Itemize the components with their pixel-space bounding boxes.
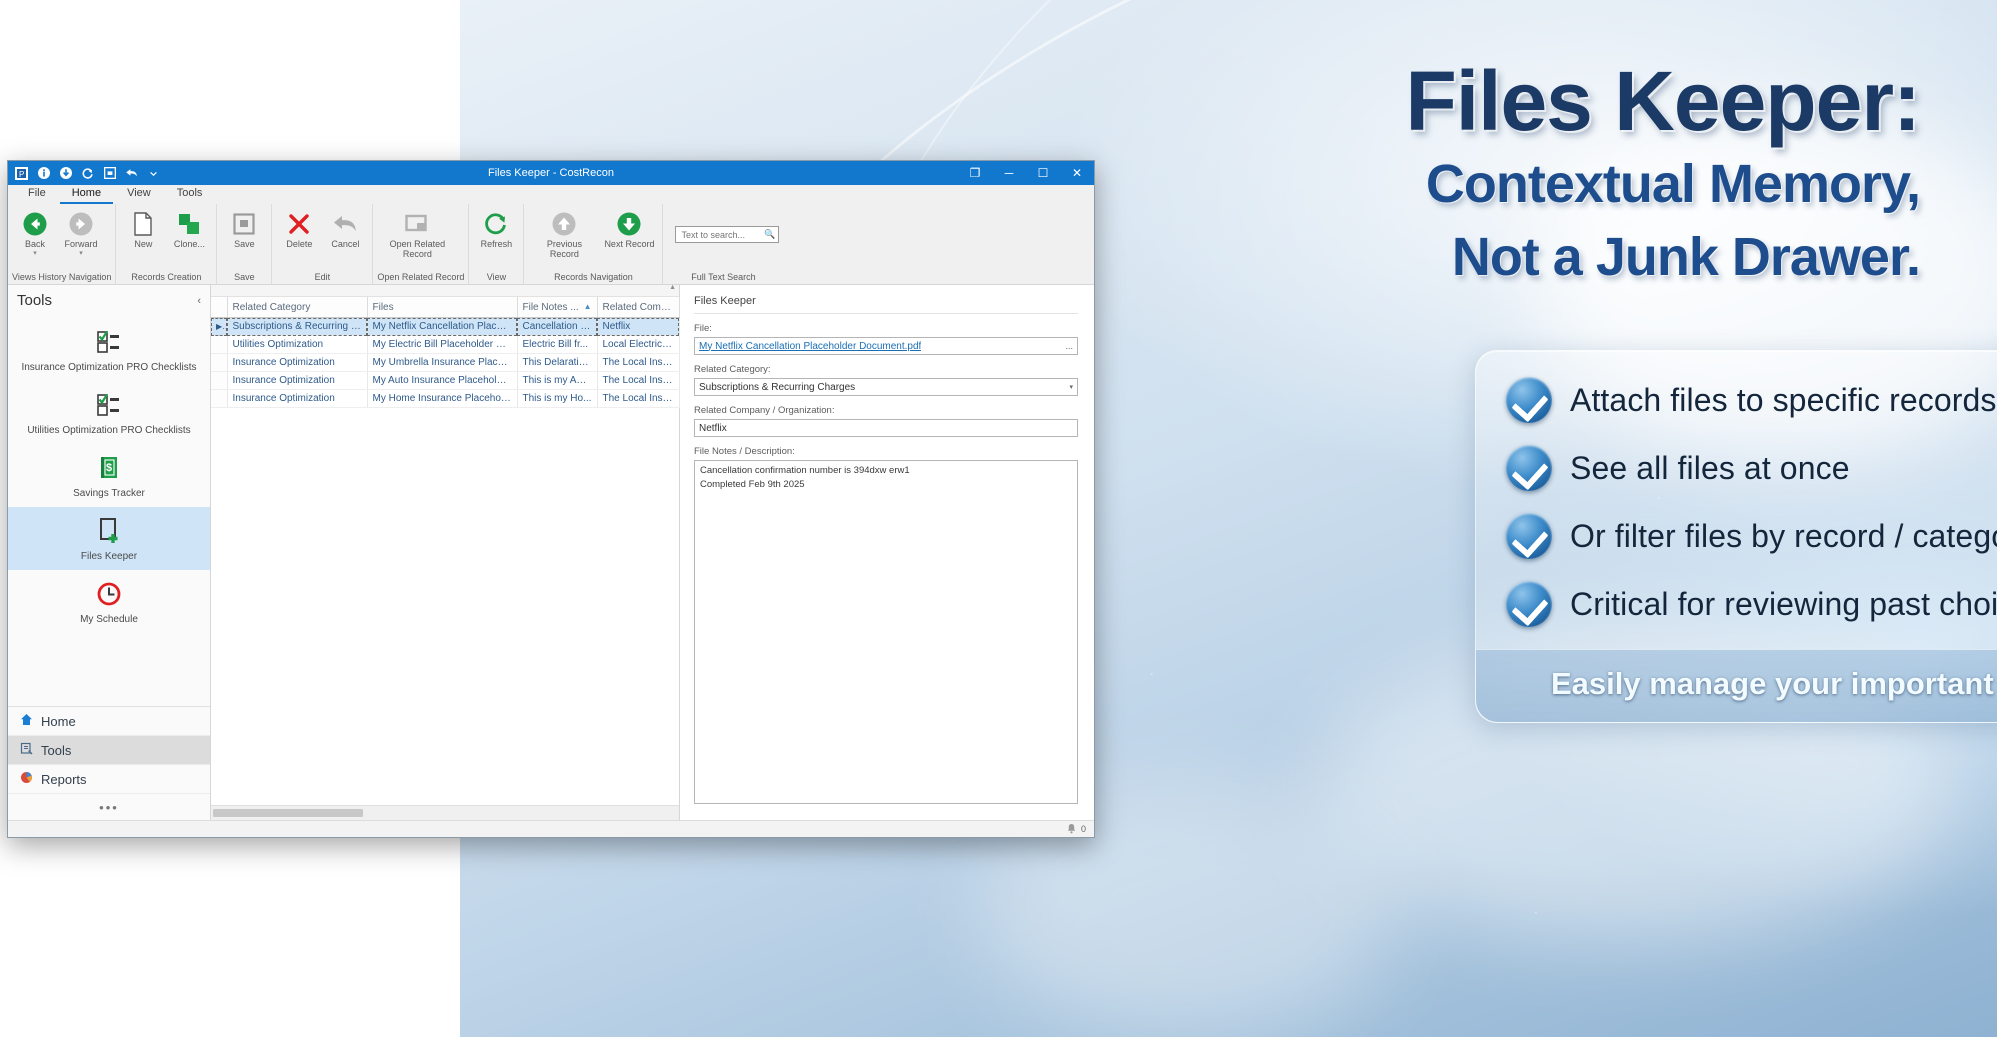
new-record-button[interactable]: New	[120, 208, 166, 251]
sidebar-nav-reports[interactable]: Reports	[8, 765, 210, 794]
cell-files: My Home Insurance Placeholder Docum...	[367, 390, 517, 408]
chevron-left-icon[interactable]: ‹	[197, 295, 201, 307]
window-body: Tools ‹ Insurance Optimization PRO	[8, 285, 1094, 820]
promo-footer-banner: Easily manage your important docs and fi…	[1476, 649, 1997, 722]
delete-button[interactable]: Delete	[276, 208, 322, 251]
previous-record-label: Previous Record	[532, 240, 596, 260]
checklist-icon	[14, 390, 204, 420]
ribbon-group-label: Open Related Record	[377, 272, 464, 284]
table-row[interactable]: Insurance Optimization My Auto Insurance…	[211, 372, 679, 390]
checklist-icon	[14, 327, 204, 357]
file-notes-textarea[interactable]: Cancellation confirmation number is 394d…	[694, 460, 1078, 804]
back-button[interactable]: Back ▾	[12, 208, 58, 258]
ribbon-group-label: Views History Navigation	[12, 272, 111, 284]
cell-related-company: Netflix	[597, 318, 679, 336]
new-record-label: New	[134, 240, 152, 250]
new-document-icon	[131, 209, 155, 239]
clock-icon	[14, 579, 204, 609]
minimize-button[interactable]: ─	[992, 161, 1026, 185]
refresh-icon[interactable]	[80, 166, 95, 181]
forward-button-label: Forward	[64, 240, 97, 250]
cell-file-notes: Cancellation c...	[517, 318, 597, 336]
sidebar-item-utilities-optimization-pro-checklists[interactable]: Utilities Optimization PRO Checklists	[8, 381, 210, 444]
ribbon-group-label: Full Text Search	[667, 272, 779, 284]
save-button[interactable]: Save	[221, 208, 267, 251]
sidebar-nav-home[interactable]: Home	[8, 707, 210, 736]
cell-related-company: The Local Insuran...	[597, 372, 679, 390]
open-related-record-icon	[404, 209, 430, 239]
tab-file[interactable]: File	[16, 185, 58, 204]
svg-text:P: P	[19, 170, 24, 179]
field-related-category: Related Category: Subscriptions & Recurr…	[694, 364, 1078, 396]
cell-related-company: Local Electric Co.	[597, 336, 679, 354]
field-file-label: File:	[694, 323, 1078, 334]
cell-related-category: Insurance Optimization	[227, 372, 367, 390]
sidebar-item-label: Insurance Optimization PRO Checklists	[14, 362, 204, 374]
refresh-circular-icon	[483, 209, 509, 239]
ribbon-group-full-text-search: 🔍 Full Text Search	[663, 204, 783, 284]
row-indicator	[211, 336, 227, 354]
sidebar-item-label: My Schedule	[14, 614, 204, 626]
related-category-value: Subscriptions & Recurring Charges	[699, 382, 855, 393]
sidebar-nav-tools[interactable]: Tools	[8, 736, 210, 765]
sidebar-item-insurance-optimization-pro-checklists[interactable]: Insurance Optimization PRO Checklists	[8, 318, 210, 381]
home-icon	[20, 713, 33, 729]
save-button-label: Save	[234, 240, 255, 250]
file-browse-button[interactable]: ...	[1065, 341, 1073, 351]
cancel-button[interactable]: Cancel	[322, 208, 368, 251]
related-company-input[interactable]: Netflix	[694, 419, 1078, 437]
related-company-value: Netflix	[699, 423, 727, 434]
cell-file-notes: This is my Ho...	[517, 390, 597, 408]
cell-file-notes: Electric Bill fr...	[517, 336, 597, 354]
grid-horizontal-scrollbar[interactable]	[211, 805, 679, 820]
back-button-label: Back	[25, 240, 45, 250]
sidebar-item-my-schedule[interactable]: My Schedule	[8, 570, 210, 633]
promo-bullet-label: See all files at once	[1570, 450, 1850, 487]
cell-files: My Netflix Cancellation Placeholder Doc.…	[367, 318, 517, 336]
download-icon[interactable]	[58, 166, 73, 181]
field-file-notes-label: File Notes / Description:	[694, 446, 1078, 457]
files-grid: Related Category Files ▲File Notes ... R…	[211, 297, 680, 408]
sidebar-item-savings-tracker[interactable]: $ Savings Tracker	[8, 444, 210, 507]
detail-pane-title: Files Keeper	[694, 295, 1078, 314]
cell-related-company: The Local Insuran...	[597, 354, 679, 372]
quick-access-toolbar: P	[8, 166, 161, 181]
cell-related-company: The Local Insuran...	[597, 390, 679, 408]
sidebar-nav-label: Reports	[41, 772, 87, 787]
related-category-dropdown[interactable]: Subscriptions & Recurring Charges ▾	[694, 378, 1078, 396]
tab-view[interactable]: View	[115, 185, 163, 204]
chevron-down-icon[interactable]	[146, 166, 161, 181]
notification-count: 0	[1081, 824, 1086, 834]
next-record-button[interactable]: Next Record	[600, 208, 658, 251]
row-indicator	[211, 372, 227, 390]
file-field-control[interactable]: My Netflix Cancellation Placeholder Docu…	[694, 337, 1078, 355]
sidebar-header: Tools ‹	[8, 285, 210, 318]
sidebar-item-label: Files Keeper	[14, 551, 204, 563]
refresh-button[interactable]: Refresh	[473, 208, 519, 251]
reports-chart-icon	[20, 771, 33, 787]
sidebar-nav: Home Tools Reports	[8, 706, 210, 794]
promo-bullet: Critical for reviewing past choices	[1506, 581, 1997, 627]
ribbon-group-save: Save Save	[217, 204, 272, 284]
undo-icon[interactable]	[124, 166, 139, 181]
ribbon-group-views-history-navigation: Back ▾ Forward ▾ Views History Navigatio…	[8, 204, 116, 284]
field-related-company: Related Company / Organization: Netflix	[694, 405, 1078, 437]
refresh-button-label: Refresh	[481, 240, 513, 250]
check-circle-icon	[1506, 513, 1552, 559]
tools-icon	[20, 742, 33, 758]
app-menu-icon[interactable]: P	[14, 166, 29, 181]
open-related-record-label: Open Related Record	[381, 240, 453, 260]
files-grid-pane: Related Category Files ▲File Notes ... R…	[211, 285, 680, 820]
check-circle-icon	[1506, 377, 1552, 423]
field-file: File: My Netflix Cancellation Placeholde…	[694, 323, 1078, 355]
field-related-company-label: Related Company / Organization:	[694, 405, 1078, 416]
forward-button[interactable]: Forward ▾	[58, 208, 104, 258]
grid-column-file-notes[interactable]: ▲File Notes ...	[517, 297, 597, 318]
sidebar-item-label: Utilities Optimization PRO Checklists	[14, 425, 204, 437]
cell-files: My Auto Insurance Placeholder Docume...	[367, 372, 517, 390]
bell-icon[interactable]	[1066, 823, 1077, 836]
ribbon-group-label: View	[473, 272, 519, 284]
sidebar-more-options-button[interactable]: •••	[8, 794, 210, 820]
cell-files: My Electric Bill Placeholder Document.pd…	[367, 336, 517, 354]
svg-text:$: $	[106, 462, 112, 474]
ribbon-group-label: Edit	[276, 272, 368, 284]
grid-column-related-company[interactable]: Related Compan...	[597, 297, 679, 318]
sidebar-nav-label: Tools	[41, 743, 71, 758]
next-record-label: Next Record	[604, 240, 654, 250]
promo-bullet-label: Or filter files by record / category	[1570, 518, 1997, 555]
grid-column-related-category[interactable]: Related Category	[227, 297, 367, 318]
promo-bullet: See all files at once	[1506, 445, 1997, 491]
check-circle-icon	[1506, 581, 1552, 627]
cell-related-category: Utilities Optimization	[227, 336, 367, 354]
cell-file-notes: This is my Aut...	[517, 372, 597, 390]
file-notes-line-1: Cancellation confirmation number is 394d…	[700, 464, 1072, 478]
search-input[interactable]	[679, 229, 764, 241]
sort-ascending-icon: ▲	[584, 302, 592, 311]
cell-file-notes: This Delaratio...	[517, 354, 597, 372]
content-area: Related Category Files ▲File Notes ... R…	[211, 285, 1094, 820]
delete-x-icon	[287, 209, 311, 239]
row-indicator	[211, 390, 227, 408]
grid-header-row: Related Category Files ▲File Notes ... R…	[211, 297, 679, 318]
delete-button-label: Delete	[286, 240, 312, 250]
table-row[interactable]: Insurance Optimization My Home Insurance…	[211, 390, 679, 408]
ribbon-group-records-navigation: Previous Record Next Record Records Navi…	[524, 204, 663, 284]
promo-bullet-label: Critical for reviewing past choices	[1570, 586, 1997, 623]
cancel-button-label: Cancel	[331, 240, 359, 250]
promo-bullet: Or filter files by record / category	[1506, 513, 1997, 559]
previous-record-button[interactable]: Previous Record	[528, 208, 600, 261]
application-window: P Files Keeper - CostRecon ❐	[7, 160, 1095, 838]
check-circle-icon	[1506, 445, 1552, 491]
maximize-button[interactable]: ☐	[1026, 161, 1060, 185]
cell-files: My Umbrella Insurance Placeholder Doc...	[367, 354, 517, 372]
tab-tools[interactable]: Tools	[165, 185, 215, 204]
ribbon-group-records-creation: New Clone... Records Creation	[116, 204, 217, 284]
window-title: Files Keeper - CostRecon	[8, 167, 1094, 179]
open-related-record-button[interactable]: Open Related Record	[377, 208, 457, 261]
ribbon-body: Back ▾ Forward ▾ Views History Navigatio…	[8, 204, 1094, 284]
grid-row-indicator-header	[211, 297, 227, 318]
next-record-down-icon	[616, 209, 642, 239]
search-input-wrapper[interactable]: 🔍	[675, 226, 779, 243]
grid-scroll-up-indicator[interactable]	[211, 285, 679, 297]
forward-arrow-icon	[68, 209, 94, 239]
money-book-icon: $	[14, 453, 204, 483]
cancel-undo-icon	[332, 209, 358, 239]
sidebar-item-files-keeper[interactable]: Files Keeper	[8, 507, 210, 570]
ribbon: File Home View Tools Back ▾	[8, 185, 1094, 285]
status-bar: 0	[8, 820, 1094, 837]
scrollbar-thumb[interactable]	[213, 809, 363, 817]
save-floppy-icon	[232, 209, 256, 239]
cell-related-category: Insurance Optimization	[227, 390, 367, 408]
save-icon[interactable]	[102, 166, 117, 181]
promo-bullet: Attach files to specific records	[1506, 377, 1997, 423]
sidebar-items: Insurance Optimization PRO Checklists Ut…	[8, 318, 210, 706]
ribbon-group-label: Records Creation	[120, 272, 212, 284]
file-notes-line-2: Completed Feb 9th 2025	[700, 478, 1072, 492]
ribbon-group-open-related-record: Open Related Record Open Related Record	[373, 204, 469, 284]
table-row[interactable]: ▶ Subscriptions & Recurring Charges My N…	[211, 318, 679, 336]
table-row[interactable]: Insurance Optimization My Umbrella Insur…	[211, 354, 679, 372]
back-arrow-icon	[22, 209, 48, 239]
table-row[interactable]: Utilities Optimization My Electric Bill …	[211, 336, 679, 354]
previous-record-up-icon	[551, 209, 577, 239]
ribbon-group-label: Records Navigation	[528, 272, 658, 284]
sidebar-title: Tools	[17, 292, 52, 309]
grid-empty-area	[211, 408, 679, 805]
add-file-icon	[14, 516, 204, 546]
grid-column-file-notes-label: File Notes ...	[523, 302, 579, 313]
row-indicator	[211, 354, 227, 372]
sidebar-nav-label: Home	[41, 714, 76, 729]
window-titlebar: P Files Keeper - CostRecon ❐	[8, 161, 1094, 185]
promo-bullet-label: Attach files to specific records	[1570, 382, 1996, 419]
chevron-down-icon[interactable]: ▾	[33, 250, 37, 257]
clone-icon	[176, 209, 202, 239]
tab-home[interactable]: Home	[60, 185, 113, 204]
ribbon-tabs: File Home View Tools	[8, 185, 1094, 204]
restore-down-button[interactable]: ❐	[958, 161, 992, 185]
clone-record-label: Clone...	[174, 240, 205, 250]
close-button[interactable]: ✕	[1060, 161, 1094, 185]
window-controls: ❐ ─ ☐ ✕	[958, 161, 1094, 185]
promo-feature-card: Attach files to specific records See all…	[1475, 350, 1997, 723]
chevron-down-icon[interactable]: ▾	[79, 250, 83, 257]
ribbon-group-view: Refresh View	[469, 204, 524, 284]
promo-headline-main: Files Keeper:	[900, 60, 1920, 142]
info-icon[interactable]	[36, 166, 51, 181]
search-magnifier-icon[interactable]: 🔍	[764, 229, 775, 240]
grid-column-files[interactable]: Files	[367, 297, 517, 318]
sidebar: Tools ‹ Insurance Optimization PRO	[8, 285, 211, 820]
sidebar-item-label: Savings Tracker	[14, 488, 204, 500]
cell-related-category: Insurance Optimization	[227, 354, 367, 372]
row-indicator: ▶	[211, 318, 227, 336]
field-related-category-label: Related Category:	[694, 364, 1078, 375]
chevron-down-icon[interactable]: ▾	[1069, 383, 1073, 391]
ribbon-group-label: Save	[221, 272, 267, 284]
clone-record-button[interactable]: Clone...	[166, 208, 212, 251]
record-detail-pane: Files Keeper File: My Netflix Cancellati…	[680, 285, 1094, 820]
ribbon-group-edit: Delete Cancel Edit	[272, 204, 373, 284]
cell-related-category: Subscriptions & Recurring Charges	[227, 318, 367, 336]
file-field-value[interactable]: My Netflix Cancellation Placeholder Docu…	[699, 341, 921, 352]
